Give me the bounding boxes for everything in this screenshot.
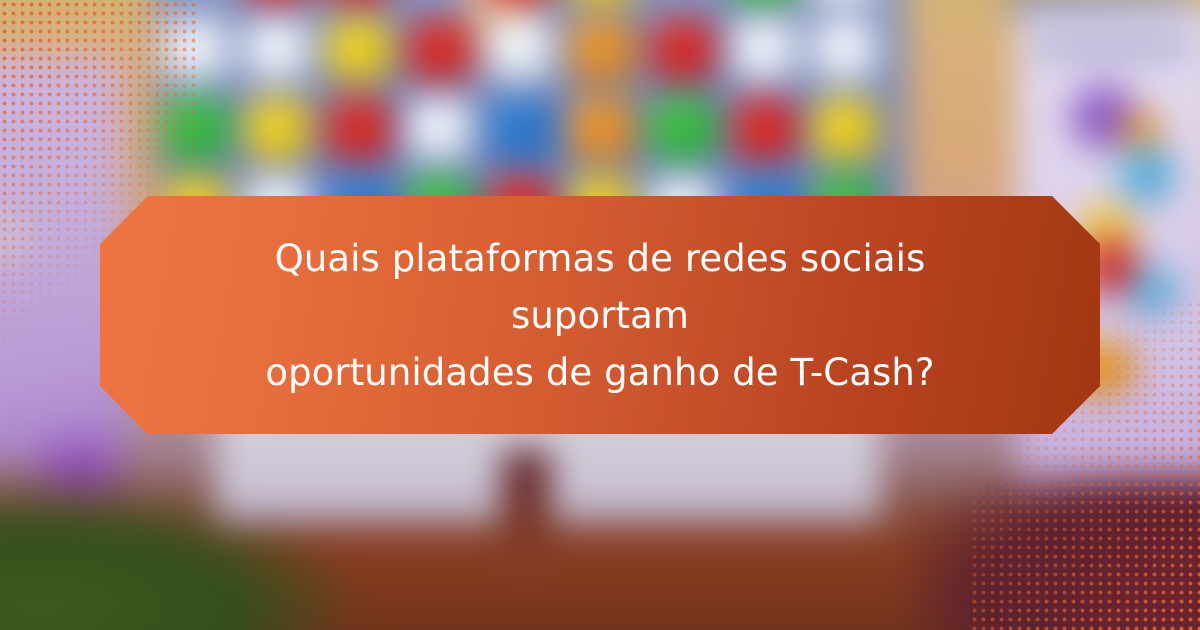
banner-title-line-1: Quais plataformas de redes sociais supor…	[190, 230, 1010, 344]
game-tile	[570, 19, 634, 81]
game-tile	[570, 98, 634, 160]
game-tile	[489, 19, 553, 81]
game-tile	[245, 0, 309, 2]
game-tile	[326, 98, 390, 160]
right-panel-subheader	[1035, 37, 1191, 56]
game-tile	[732, 0, 796, 2]
game-tile	[651, 98, 715, 160]
game-tile	[164, 98, 228, 160]
game-tile	[408, 0, 472, 2]
game-tile	[408, 19, 472, 81]
game-tile	[732, 19, 796, 81]
game-tile	[489, 0, 553, 2]
game-tile	[651, 0, 715, 2]
game-tile	[408, 98, 472, 160]
game-tile	[164, 0, 228, 2]
game-tile	[651, 19, 715, 81]
game-tile	[813, 0, 877, 2]
game-tile	[570, 0, 634, 2]
game-tile	[245, 19, 309, 81]
game-tile	[245, 98, 309, 160]
game-tile	[813, 98, 877, 160]
question-banner: Quais plataformas de redes sociais supor…	[100, 196, 1100, 434]
game-tile	[813, 19, 877, 81]
gem-icon-cyan-2	[1128, 266, 1176, 314]
game-tile	[732, 98, 796, 160]
banner-title-line-2: oportunidades de ganho de T-Cash?	[265, 344, 934, 401]
red-area	[912, 476, 1200, 630]
game-tile	[164, 19, 228, 81]
left-panel-item	[0, 201, 49, 274]
game-tile	[326, 19, 390, 81]
bottom-panel-notch	[501, 450, 551, 580]
game-tile	[489, 98, 553, 160]
social-card: Quais plataformas de redes sociais supor…	[0, 0, 1200, 630]
gem-icon-cyan	[1118, 145, 1174, 201]
game-tile	[326, 0, 390, 2]
